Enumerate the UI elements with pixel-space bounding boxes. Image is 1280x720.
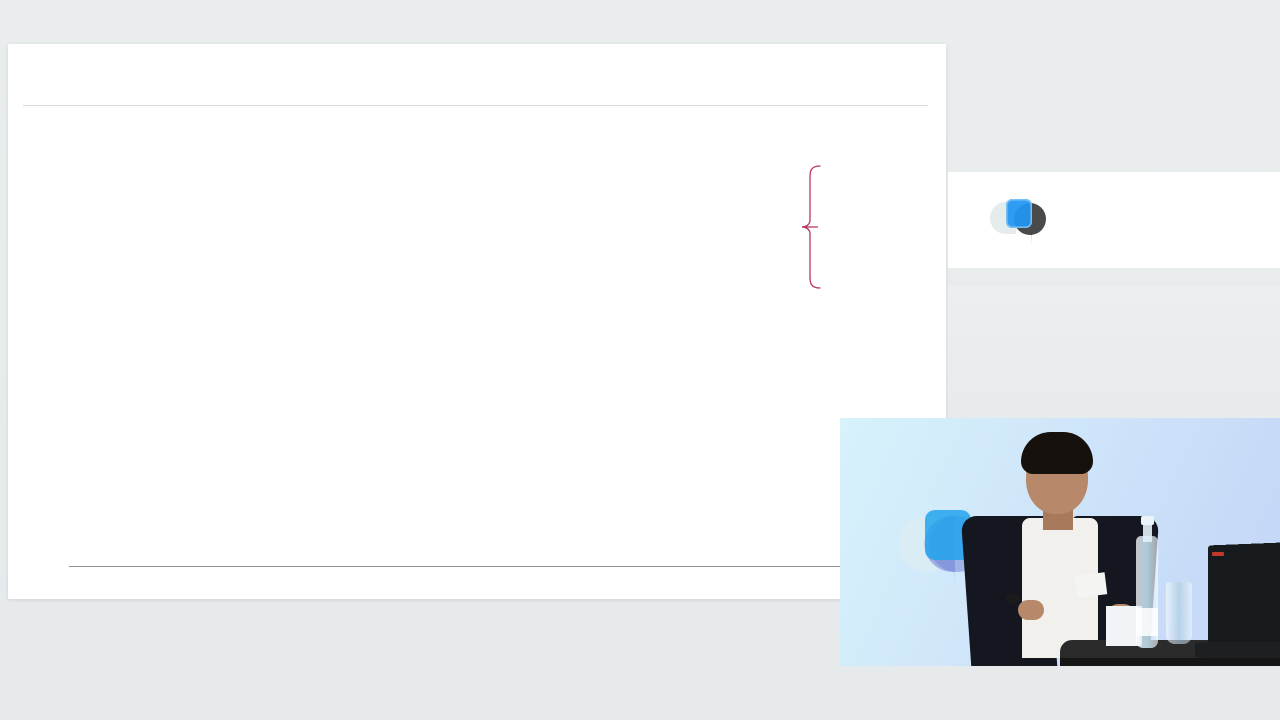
laptop-logo-icon (1212, 552, 1224, 556)
water-bottle-label (1136, 608, 1158, 636)
webinar-stage (0, 0, 1280, 720)
presenter-name-badge (1075, 572, 1107, 597)
presenter-hair (1021, 432, 1093, 474)
presentation-slide (8, 44, 946, 599)
title-divider (23, 105, 928, 106)
two-speech-bubbles-logo-icon (988, 194, 1050, 248)
pie-chart-left-svg (28, 172, 428, 452)
presenter-hand-left (1018, 600, 1044, 620)
pie-chart-right-svg (438, 162, 858, 452)
brand-panel (948, 172, 1280, 268)
water-bottle-neck (1143, 522, 1152, 542)
empty-panel (948, 286, 1280, 402)
pie-chart-general-failure-reasons (28, 172, 428, 452)
water-bottle-cap (1141, 516, 1154, 525)
brace-icon (798, 162, 948, 292)
bar-chart-failure-rate-over-time (63, 444, 853, 589)
drinking-glass (1166, 582, 1192, 644)
pie-chart-supply-chain-failure-reasons (438, 162, 858, 452)
laptop-screen (1208, 542, 1280, 649)
bar-chart-axis (69, 566, 847, 567)
laptop-base (1195, 642, 1280, 659)
presenter-video-tile[interactable] (840, 418, 1280, 666)
supply-chain-annotation (798, 162, 948, 292)
desk-edge (1060, 658, 1280, 666)
